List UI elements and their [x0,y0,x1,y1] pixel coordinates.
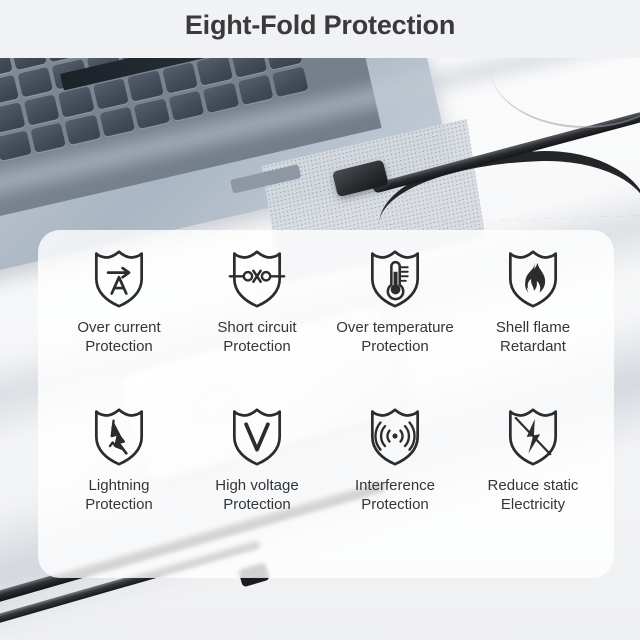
shield-lightning-icon [90,406,148,468]
feature-card: Over current Protection Short circuit Pr… [38,230,614,578]
keyboard-key [58,86,94,117]
keyboard-key [197,56,233,85]
product-feature-image: Eight-Fold Protection Over current Prote… [0,0,640,640]
feature-item-interference[interactable]: Interference Protection [326,406,464,564]
keyboard-key [231,56,267,77]
feature-label: Lightning Protection [85,476,153,514]
keyboard-key [93,78,129,109]
shield-interference-icon [366,406,424,468]
feature-label: Interference Protection [355,476,435,514]
shield-short-circuit-icon [228,248,286,310]
keyboard-key [0,75,19,106]
shield-static-electricity-icon [504,406,562,468]
feature-label: Short circuit Protection [217,318,296,356]
shield-high-voltage-icon [228,406,286,468]
feature-item-static-electricity[interactable]: Reduce static Electricity [464,406,602,564]
feature-grid: Over current Protection Short circuit Pr… [38,230,614,578]
feature-label: High voltage Protection [215,476,298,514]
feature-item-over-current[interactable]: Over current Protection [50,248,188,406]
feature-item-short-circuit[interactable]: Short circuit Protection [188,248,326,406]
feature-item-high-voltage[interactable]: High voltage Protection [188,406,326,564]
shield-over-current-icon [90,248,148,310]
shield-over-temperature-icon [366,248,424,310]
keyboard-key [17,67,53,98]
title-band: Eight-Fold Protection [0,0,640,58]
keyboard-key [0,102,25,133]
feature-item-lightning[interactable]: Lightning Protection [50,406,188,564]
shield-flame-retardant-icon [504,248,562,310]
feature-label: Over current Protection [77,318,160,356]
feature-item-over-temperature[interactable]: Over temperature Protection [326,248,464,406]
feature-label: Shell flame Retardant [496,318,570,356]
feature-item-flame-retardant[interactable]: Shell flame Retardant [464,248,602,406]
feature-label: Reduce static Electricity [488,476,579,514]
feature-label: Over temperature Protection [336,318,454,356]
keyboard-key [162,62,198,93]
keyboard-key [127,70,163,101]
page-title: Eight-Fold Protection [0,10,640,41]
keyboard-key [23,94,59,125]
